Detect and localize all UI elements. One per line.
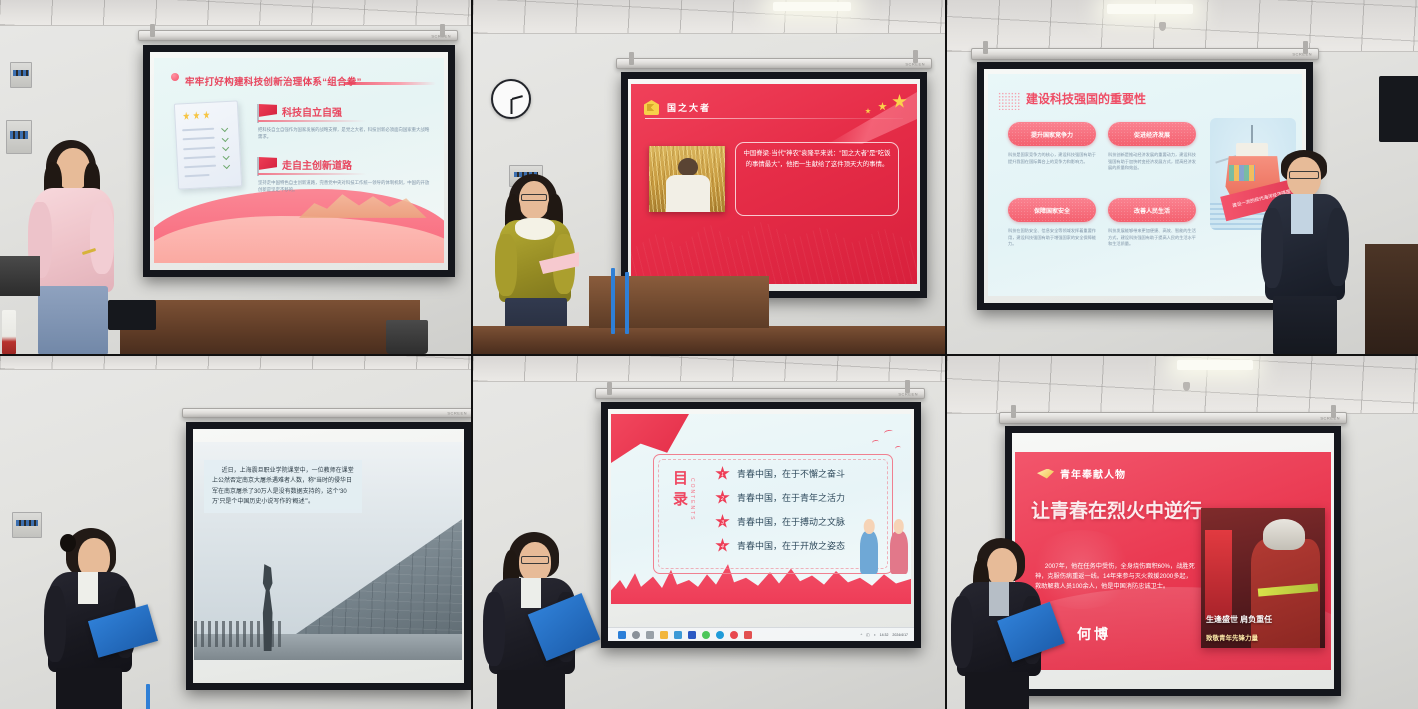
arm-left — [495, 234, 517, 296]
head — [987, 548, 1017, 586]
dot-grid-decor — [998, 92, 1020, 110]
toc-label: 青春中国，在于不懈之奋斗 — [737, 467, 845, 480]
sprinkler-icon — [1159, 22, 1166, 31]
bird-icon — [884, 429, 894, 436]
panel-bottom-right: SCREEN 青年奉献人物 让青春在烈火中逆行 2007年，他在任务中受伤，全身… — [947, 356, 1418, 709]
projector-screen-case: SCREEN — [182, 408, 471, 418]
star-icon — [878, 102, 887, 111]
header-rule — [645, 118, 903, 119]
projection-screen: 近日，上海震旦职业学院课堂中，一位教师在课堂上公然否定南京大屠杀遇难者人数，称“… — [186, 422, 471, 690]
sprinkler-icon — [1183, 382, 1190, 391]
panel-top-center: SCREEN 国之大者 中国脊梁·当代“神农”袁隆平来说：“国之大 — [473, 0, 945, 354]
star-icon: 3 — [715, 514, 730, 529]
star-icon — [865, 108, 871, 114]
slide-title: 建设科技强国的重要性 — [1026, 90, 1146, 107]
card-line — [184, 156, 216, 160]
person-name: 何博 — [1077, 624, 1111, 644]
wall-monitor — [1379, 76, 1418, 142]
slide-contents: 目录 CONTENTS 1 青春中国，在于不懈之奋斗 2 青春中国，在于青年之活… — [611, 414, 911, 604]
slide-tech-governance: 牢牢打好构建科技创新治理体系“组合拳” — [154, 58, 444, 263]
slide-tag: 青年奉献人物 — [1037, 466, 1126, 481]
glasses-icon — [521, 556, 549, 564]
photo-caption-1: 生逢盛世 肩负重任 — [1206, 615, 1320, 626]
panel-top-right: SCREEN 建设科技强国的重要性 提升国家竞争力 科技是国家竞争力的核心，建设… — [947, 0, 1418, 354]
panel-bottom-center: SCREEN 目录 CONTENTS 1 青春中国，在于不懈之奋斗 2 — [473, 356, 945, 709]
edge-icon[interactable] — [716, 631, 724, 639]
clock-hour-hand — [512, 95, 523, 100]
projector-screen-case: SCREEN — [595, 388, 925, 399]
projector-screen-case: SCREEN — [971, 48, 1319, 60]
screen-bracket-left — [629, 52, 634, 65]
toc-item-1[interactable]: 1 青春中国，在于不懈之奋斗 — [715, 466, 845, 481]
card-line — [183, 146, 215, 150]
presenter-navy-jacket — [1255, 150, 1359, 354]
memorial-text: 近日，上海震旦职业学院课堂中，一位教师在课堂上公然否定南京大屠杀遇难者人数，称“… — [204, 460, 362, 513]
student-figure — [860, 531, 878, 573]
students-illustration — [860, 524, 908, 573]
pointer-stick — [625, 272, 629, 334]
grey-shirt — [989, 582, 1009, 616]
screen-brand-label: SCREEN — [447, 411, 467, 416]
screen-bracket-right — [913, 50, 918, 63]
task-view-icon[interactable] — [646, 631, 654, 639]
star-icon: 1 — [715, 466, 730, 481]
flag-icon — [258, 157, 277, 170]
check-icon — [223, 162, 230, 169]
firefighter-helmet — [1263, 519, 1305, 550]
arm-left — [1261, 208, 1283, 288]
store-icon[interactable] — [674, 631, 682, 639]
card-body-1: 科技是国家竞争力的核心，建设科技强国有助于提升我国在国际舞台上的竞争力和影响力。 — [1008, 152, 1096, 165]
toc-number: 1 — [715, 466, 730, 481]
toc-item-2[interactable]: 2 青春中国，在于青年之活力 — [715, 490, 845, 505]
wechat-icon[interactable] — [702, 631, 710, 639]
white-shirt — [78, 572, 98, 604]
shirt-collar — [1291, 194, 1313, 234]
ccp-emblem-icon — [644, 100, 659, 115]
slide-title-dot — [171, 73, 179, 81]
screen-bracket-left — [1011, 405, 1016, 418]
presenter-dark-blazer — [947, 538, 1063, 709]
taskbar-date[interactable]: 2024/4/17 — [892, 633, 908, 637]
glasses-icon — [1289, 171, 1319, 179]
card-line — [183, 137, 215, 141]
toc-label: 青春中国，在于搏动之文脉 — [737, 515, 845, 528]
trash-bin — [386, 320, 428, 354]
slide-guozhidazhe: 国之大者 中国脊梁·当代“神农”袁隆平来说：“国之大者”是“吃饭的事情最大”，他… — [631, 84, 917, 284]
legs — [56, 668, 122, 709]
screen-bracket-right — [905, 380, 910, 393]
toc-item-4[interactable]: 4 青春中国，在于开放之姿态 — [715, 538, 845, 553]
office-icon[interactable] — [688, 631, 696, 639]
clock-minute-hand — [511, 99, 513, 114]
slide-memorial: 近日，上海震旦职业学院课堂中，一位教师在课堂上公然否定南京大屠杀遇难者人数，称“… — [194, 442, 462, 660]
toc-number: 2 — [715, 490, 730, 505]
search-icon[interactable] — [632, 631, 640, 639]
wall-clock — [491, 79, 531, 119]
volume-icon[interactable]: ◑ — [874, 633, 876, 637]
yuan-longping-photo — [649, 146, 725, 212]
presenter-black-blazer — [40, 528, 158, 709]
ceiling — [0, 356, 471, 370]
projection-screen: 国之大者 中国脊梁·当代“神农”袁隆平来说：“国之大者”是“吃饭的事情最大”，他… — [621, 72, 927, 298]
ship-mast — [1251, 125, 1253, 145]
screen-bracket-left — [983, 41, 988, 54]
toc-number: 4 — [715, 538, 730, 553]
card-pill-4[interactable]: 改善人民生活 — [1108, 198, 1196, 222]
section-body-2: 坚持走中国特色自主创新道路，完善党中央对科技工作统一领导的体制机制，中国的开放创… — [258, 179, 430, 193]
screen-bracket-right — [440, 24, 445, 37]
bird-icon — [872, 439, 880, 445]
legs — [1273, 296, 1337, 354]
check-icon — [222, 135, 229, 142]
toc-label: 青春中国，在于开放之姿态 — [737, 539, 845, 552]
wall-panel-upper — [10, 62, 32, 88]
ceiling-light — [1107, 4, 1193, 14]
chevron-up-icon[interactable]: ^ — [861, 633, 863, 637]
side-cabinet — [0, 256, 40, 296]
screen-bracket-left — [150, 24, 155, 37]
check-icon — [222, 144, 229, 151]
screen-bracket-left — [607, 382, 612, 395]
taskbar-icons — [618, 631, 752, 639]
slide-headline: 让青春在烈火中逆行 — [1031, 496, 1202, 523]
portrait-shirt — [666, 175, 710, 212]
shipping-containers — [1229, 165, 1255, 181]
flag-icon — [1037, 469, 1054, 479]
arm-left — [44, 586, 66, 662]
legs — [38, 286, 108, 354]
checklist-card — [174, 100, 242, 189]
contents-heading-cn: 目录 — [669, 470, 690, 512]
desk — [120, 300, 420, 354]
card-body-2: 科技创新是推动经济发展的重要动力，建设科技强国有助于加快转变经济发展方式，提高经… — [1108, 152, 1196, 172]
photo-banner — [1205, 530, 1232, 620]
tag-label: 青年奉献人物 — [1060, 466, 1126, 481]
meeting-icon[interactable] — [744, 631, 752, 639]
card-pill-3[interactable]: 保障国家安全 — [1008, 198, 1096, 222]
arm-left — [483, 592, 505, 666]
card-pill-1[interactable]: 提升国家竞争力 — [1008, 122, 1096, 146]
panel-top-left: SCREEN 牢牢打好构建科技创新治理体系“组合拳” — [0, 0, 471, 354]
projector-screen-case: SCREEN — [616, 58, 932, 69]
slide-title: 牢牢打好构建科技创新治理体系“组合拳” — [185, 74, 362, 88]
toc-number: 3 — [715, 514, 730, 529]
monitor — [108, 300, 156, 330]
windows-taskbar[interactable]: ^ ◰ ◑ 14:32 2024/4/17 — [608, 627, 914, 641]
side-cabinet — [1365, 244, 1418, 354]
check-icon — [221, 125, 228, 132]
section-underline — [258, 173, 366, 175]
pointer-stick — [611, 268, 615, 334]
firefighter-photo: 生逢盛世 肩负重任 致敬青年先锋力量 — [1201, 508, 1325, 648]
ceiling — [0, 0, 471, 26]
white-collar — [515, 218, 555, 240]
legs — [497, 670, 565, 709]
screen-bracket-right — [1331, 405, 1336, 418]
toc-item-3[interactable]: 3 青春中国，在于搏动之文脉 — [715, 514, 845, 529]
arm-right — [1327, 208, 1349, 286]
ceiling — [473, 356, 945, 382]
projection-screen: 牢牢打好构建科技创新治理体系“组合拳” — [143, 45, 455, 277]
desk — [473, 326, 945, 354]
card-line — [185, 174, 210, 177]
flag-icon — [258, 104, 277, 117]
legs — [965, 672, 1029, 709]
section-underline — [258, 120, 366, 122]
ceiling — [473, 0, 945, 34]
check-icon — [222, 153, 229, 160]
back-cabinet — [589, 276, 769, 328]
bird-icon — [895, 445, 902, 451]
student-figure — [890, 531, 908, 573]
network-icon[interactable]: ◰ — [866, 633, 869, 637]
taskbar-clock[interactable]: 14:32 — [880, 633, 889, 637]
projector-screen-case: SCREEN — [999, 412, 1347, 424]
card-body-3: 科技在国防安全、信息安全等领域发挥着重要作用，建设科技强国有助于增强国家的安全保… — [1008, 228, 1096, 248]
qq-icon[interactable] — [730, 631, 738, 639]
contents-heading-en: CONTENTS — [689, 478, 695, 522]
star-icon — [203, 110, 210, 119]
hair-bun — [60, 534, 76, 552]
projection-screen: 目录 CONTENTS 1 青春中国，在于不懈之奋斗 2 青春中国，在于青年之活… — [601, 402, 921, 648]
file-explorer-icon[interactable] — [660, 631, 668, 639]
card-stars — [183, 110, 210, 120]
screen-bracket-right — [1303, 41, 1308, 54]
toc-label: 青春中国，在于青年之活力 — [737, 491, 845, 504]
slide-header: 国之大者 — [667, 101, 711, 114]
card-line — [182, 128, 214, 132]
taskbar-tray[interactable]: ^ ◰ ◑ 14:32 2024/4/17 — [861, 633, 908, 637]
card-line — [184, 165, 216, 169]
water-bottle — [2, 310, 16, 354]
panel-bottom-left: SCREEN 近日，上海震旦职业学院课堂中，一位教师在课堂上公然否定南京大屠杀遇… — [0, 356, 471, 709]
arm-right — [90, 202, 114, 274]
start-icon[interactable] — [618, 631, 626, 639]
star-icon — [193, 111, 200, 120]
star-icon: 4 — [715, 538, 730, 553]
card-pill-2[interactable]: 促进经济发展 — [1108, 122, 1196, 146]
quote-box: 中国脊梁·当代“神农”袁隆平来说：“国之大者”是“吃饭的事情最大”，他把一生献给… — [735, 142, 899, 216]
card-body-4: 科技发展能够带来更加便捷、高效、智能的生活方式，建设科技强国有助于提高人民的生活… — [1108, 228, 1196, 248]
star-icon: 2 — [715, 490, 730, 505]
projector-screen-case: SCREEN — [138, 30, 458, 41]
presenter-glasses-folder — [479, 532, 601, 709]
star-icon — [183, 111, 190, 120]
white-shirt — [521, 578, 541, 608]
ceiling-light — [773, 2, 851, 11]
photo-grid: SCREEN 牢牢打好构建科技创新治理体系“组合拳” — [0, 0, 1418, 709]
portrait-head — [678, 158, 698, 176]
glasses-icon — [521, 194, 547, 201]
section-body-1: 把科技自立自强作为国家发展的战略支撑，是党之大者，科技创新必须面向国家重大战略需… — [258, 126, 430, 140]
section-heading-2: 走自主创新道路 — [282, 157, 352, 172]
arm-left — [951, 596, 973, 668]
section-heading-1: 科技自立自强 — [282, 104, 342, 119]
wall-panel — [12, 512, 42, 538]
photo-caption-2: 致敬青年先锋力量 — [1206, 635, 1320, 644]
pointer-stick — [146, 684, 150, 709]
ceiling-light — [1177, 360, 1253, 370]
